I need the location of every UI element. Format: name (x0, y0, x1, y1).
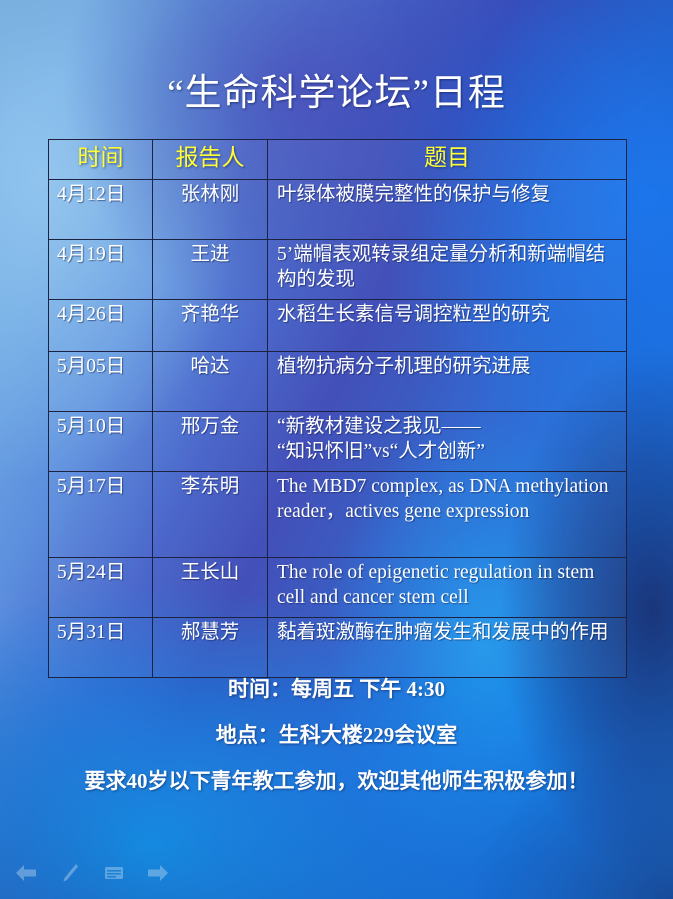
table-row: 4月12日张林刚叶绿体被膜完整性的保护与修复 (49, 180, 627, 240)
cell-person: 王进 (153, 240, 268, 300)
table-row: 4月26日齐艳华水稻生长素信号调控粒型的研究 (49, 300, 627, 352)
next-slide-button[interactable] (146, 861, 170, 885)
table-row: 5月24日王长山The role of epigenetic regulatio… (49, 558, 627, 618)
schedule-table: 时间 报告人 题目 4月12日张林刚叶绿体被膜完整性的保护与修复4月19日王进5… (48, 139, 627, 678)
footer-meeting-time: 时间：每周五 下午 4:30 (0, 673, 673, 703)
cell-topic: The role of epigenetic regulation in ste… (268, 558, 627, 618)
cell-time: 5月17日 (49, 472, 153, 558)
cell-time: 5月31日 (49, 618, 153, 678)
cell-time: 5月10日 (49, 412, 153, 472)
cell-person: 张林刚 (153, 180, 268, 240)
right-arrow-icon (147, 864, 169, 882)
table-body: 4月12日张林刚叶绿体被膜完整性的保护与修复4月19日王进5’端帽表观转录组定量… (49, 180, 627, 678)
left-arrow-icon (15, 864, 37, 882)
cell-time: 5月24日 (49, 558, 153, 618)
slide-menu-button[interactable] (102, 861, 126, 885)
cell-topic: 植物抗病分子机理的研究进展 (268, 352, 627, 412)
footer-attendance-note: 要求40岁以下青年教工参加，欢迎其他师生积极参加！ (0, 765, 673, 795)
cell-person: 齐艳华 (153, 300, 268, 352)
page-title: “生命科学论坛”日程 (0, 72, 673, 116)
cell-topic: 5’端帽表观转录组定量分析和新端帽结构的发现 (268, 240, 627, 300)
table-header: 时间 报告人 题目 (49, 140, 627, 180)
cell-time: 5月05日 (49, 352, 153, 412)
column-header-topic: 题目 (268, 140, 627, 180)
cell-person: 哈达 (153, 352, 268, 412)
table-row: 4月19日王进5’端帽表观转录组定量分析和新端帽结构的发现 (49, 240, 627, 300)
column-header-time: 时间 (49, 140, 153, 180)
table-row: 5月10日邢万金“新教材建设之我见——“知识怀旧”vs“人才创新” (49, 412, 627, 472)
previous-slide-button[interactable] (14, 861, 38, 885)
cell-time: 4月26日 (49, 300, 153, 352)
table-row: 5月31日郝慧芳黏着斑激酶在肿瘤发生和发展中的作用 (49, 618, 627, 678)
footer-meeting-place: 地点：生科大楼229会议室 (0, 719, 673, 749)
cell-topic: 黏着斑激酶在肿瘤发生和发展中的作用 (268, 618, 627, 678)
cell-person: 郝慧芳 (153, 618, 268, 678)
menu-icon (104, 865, 124, 881)
pen-tool-button[interactable] (58, 861, 82, 885)
cell-person: 王长山 (153, 558, 268, 618)
table-row: 5月17日李东明The MBD7 complex, as DNA methyla… (49, 472, 627, 558)
pen-icon (61, 863, 79, 883)
cell-time: 4月19日 (49, 240, 153, 300)
cell-topic: “新教材建设之我见——“知识怀旧”vs“人才创新” (268, 412, 627, 472)
presenter-toolbar[interactable] (14, 861, 170, 885)
table-row: 5月05日哈达植物抗病分子机理的研究进展 (49, 352, 627, 412)
cell-person: 李东明 (153, 472, 268, 558)
cell-topic: The MBD7 complex, as DNA methylation rea… (268, 472, 627, 558)
cell-time: 4月12日 (49, 180, 153, 240)
cell-person: 邢万金 (153, 412, 268, 472)
cell-topic: 水稻生长素信号调控粒型的研究 (268, 300, 627, 352)
presentation-slide: “生命科学论坛”日程 时间 报告人 题目 4月12日张林刚叶绿体被膜完整性的保护… (0, 0, 673, 899)
table-header-row: 时间 报告人 题目 (49, 140, 627, 180)
column-header-person: 报告人 (153, 140, 268, 180)
cell-topic: 叶绿体被膜完整性的保护与修复 (268, 180, 627, 240)
